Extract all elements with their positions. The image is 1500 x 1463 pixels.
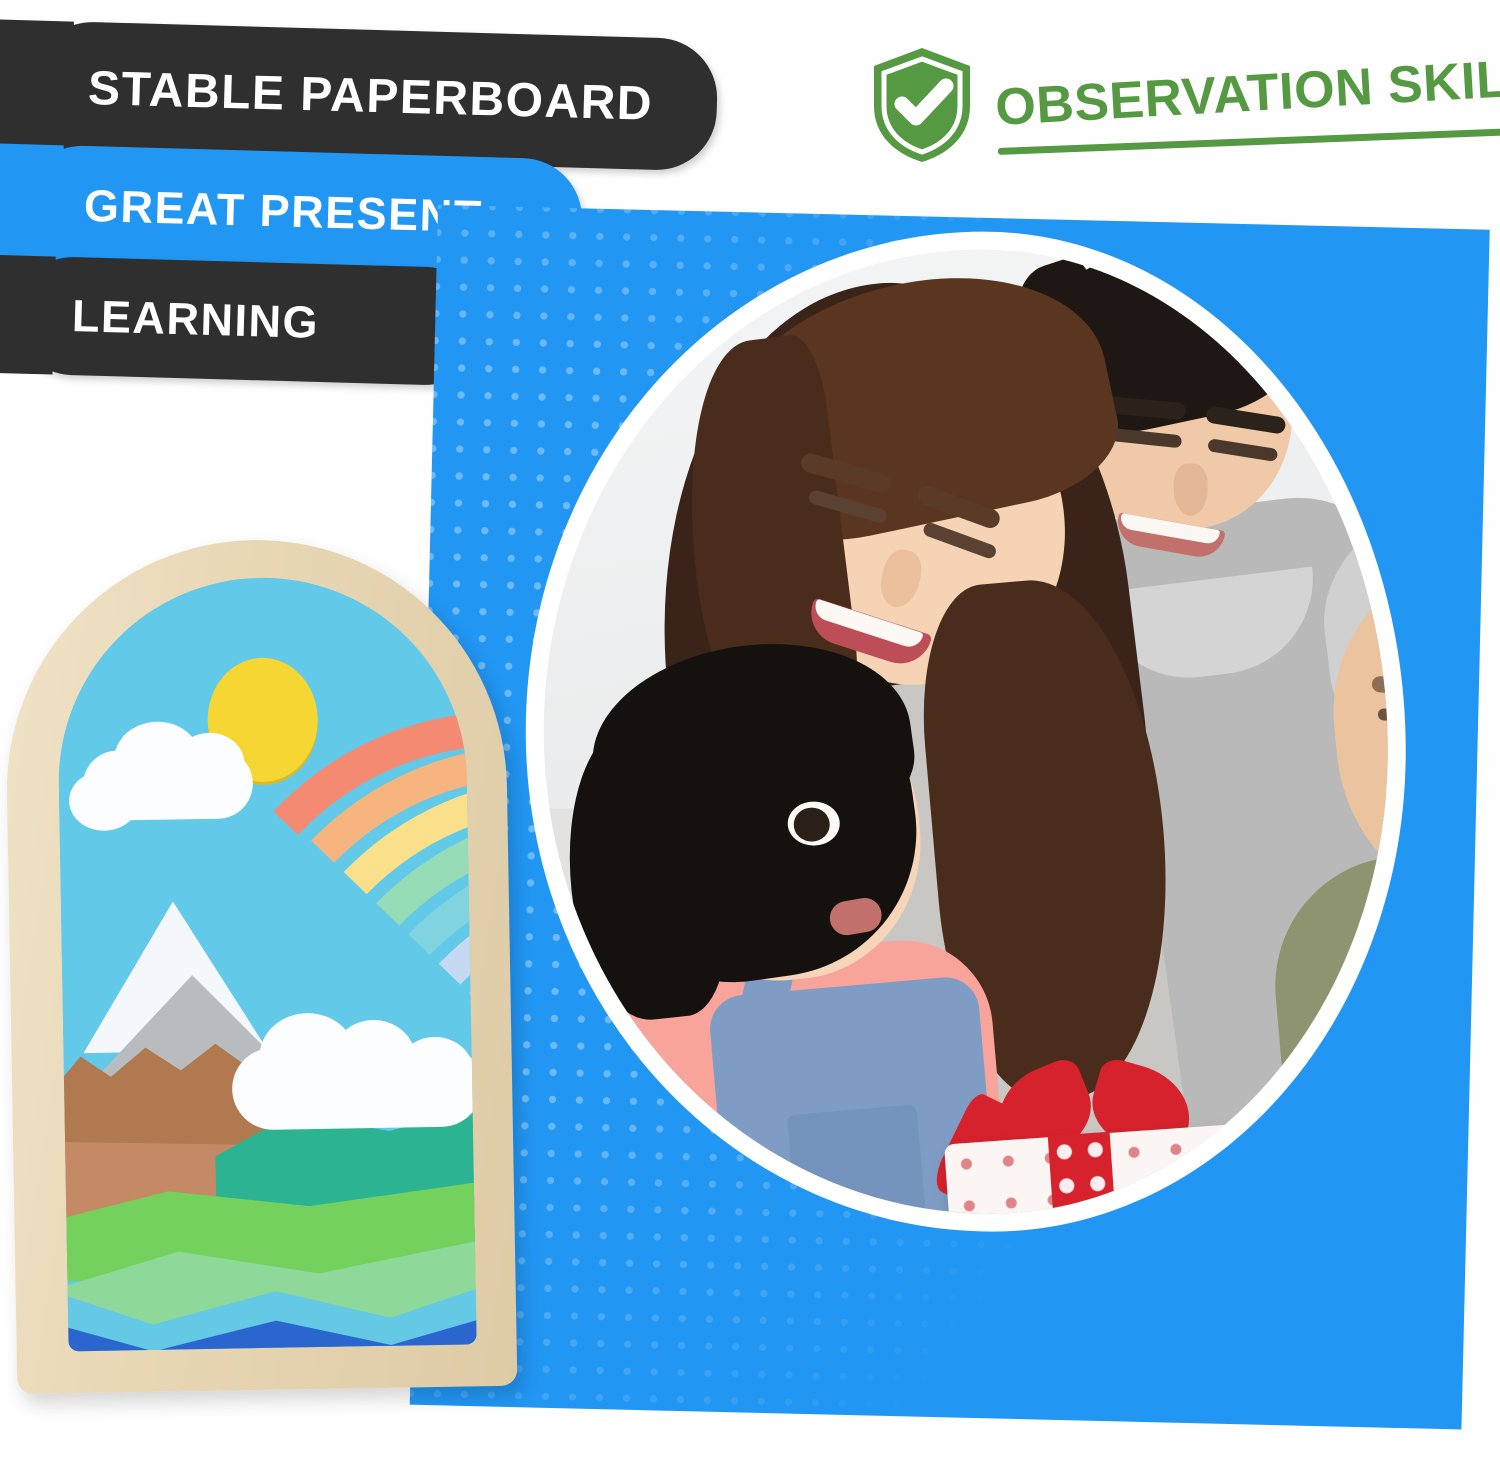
father-nose — [1174, 464, 1208, 516]
wooden-puzzle-product — [3, 536, 518, 1395]
headline-observation-skills: OBSERVATION SKILLS — [866, 36, 1486, 186]
banner-stage: STABLE PAPERBOARD GREAT PRESENT LEARNING… — [0, 0, 1500, 1463]
shield-check-icon — [866, 44, 978, 166]
blue-feature-panel — [410, 205, 1490, 1429]
feature-badge-label: GREAT PRESENT — [83, 180, 483, 243]
headline-text-wrap: OBSERVATION SKILLS — [994, 47, 1500, 155]
family-photo — [544, 250, 1388, 1214]
photo-oval-frame — [526, 232, 1406, 1232]
feature-badge-label: LEARNING — [71, 290, 319, 349]
feature-badge-label: STABLE PAPERBOARD — [87, 61, 653, 132]
puzzle-scene — [55, 574, 476, 1351]
headline-label: OBSERVATION SKILLS — [994, 47, 1500, 134]
feature-badge-learning[interactable]: LEARNING — [12, 255, 485, 386]
child-eye — [794, 808, 830, 842]
child-overall-pocket — [787, 1104, 927, 1213]
